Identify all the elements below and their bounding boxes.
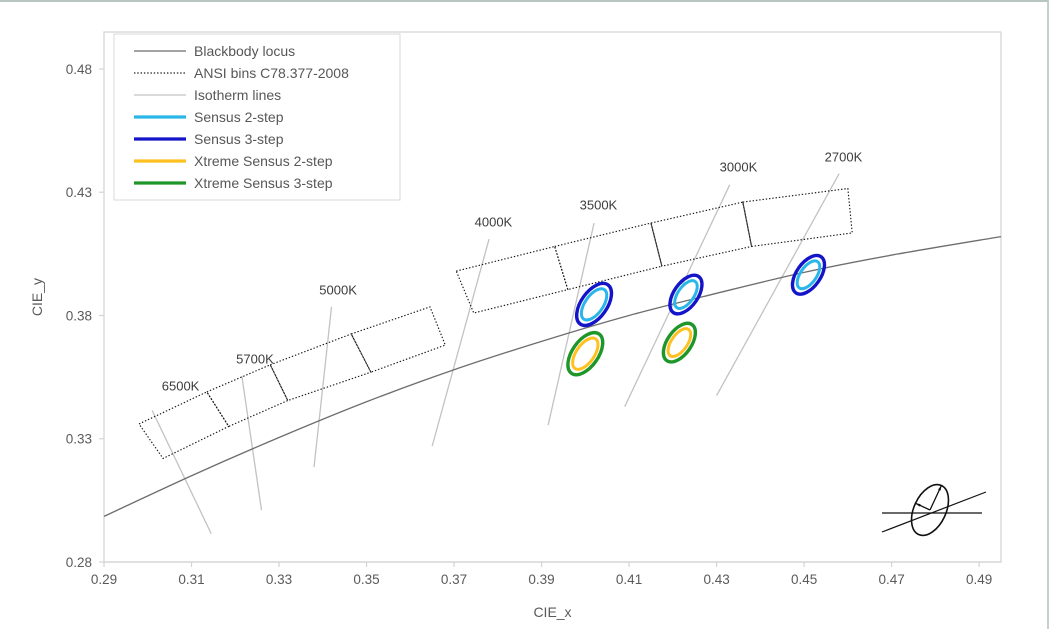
legend-item-label: Sensus 2-step — [194, 109, 284, 125]
figure-frame: 6500K5700K5000K4000K3500K3000K2700K 0.29… — [0, 0, 1049, 629]
x-tick-label-0.35: 0.35 — [353, 572, 379, 587]
legend-item-label: Xtreme Sensus 3-step — [194, 175, 333, 191]
y-tick-label-0.48: 0.48 — [66, 62, 92, 77]
blackbody-locus-path — [104, 237, 1001, 517]
ellipse-xtreme-sensus-2-step — [664, 325, 695, 360]
y-tick-label-0.28: 0.28 — [66, 555, 92, 570]
ellipse-sensus-3-step — [570, 277, 619, 331]
x-tick-label-0.45: 0.45 — [791, 572, 817, 587]
x-axis-title: CIE_x — [533, 604, 571, 620]
axis-titles-group: CIE_xCIE_y — [29, 278, 572, 620]
x-tick-label-0.37: 0.37 — [441, 572, 467, 587]
ansi-bin-3000K-bin — [651, 202, 752, 266]
blackbody-locus-group — [104, 237, 1001, 517]
macadam-ellipse-schematic-inset — [882, 479, 986, 541]
x-tick-label-0.33: 0.33 — [266, 572, 292, 587]
ansi-bin-6500K-bin — [139, 392, 229, 459]
ansi-bin-4000K-bin — [456, 246, 568, 313]
ellipse-sensus-2-step — [670, 277, 701, 312]
isotherm-line-5700K — [242, 376, 262, 510]
ellipse-xtreme-sensus-2-step — [568, 334, 603, 374]
ellipse-sensus-2-step — [576, 284, 611, 324]
x-tick-label-0.31: 0.31 — [178, 572, 204, 587]
cct-label-3500K: 3500K — [580, 197, 618, 212]
legend-item-label: Xtreme Sensus 2-step — [194, 153, 333, 169]
y-axis-title: CIE_y — [29, 278, 45, 316]
x-tick-label-0.49: 0.49 — [966, 572, 992, 587]
cct-label-6500K: 6500K — [162, 379, 200, 394]
isotherm-line-6500K — [152, 410, 211, 533]
ansi-bin-divider-1 — [743, 202, 752, 246]
x-tick-label-0.39: 0.39 — [528, 572, 554, 587]
ansi-bin-2700K-bin — [743, 189, 852, 247]
legend-item-label: Sensus 3-step — [194, 131, 284, 147]
ellipse-cluster-4000K-0 — [570, 277, 619, 331]
legend[interactable]: Blackbody locusANSI bins C78.377-2008Iso… — [114, 34, 400, 200]
cct-label-2700K: 2700K — [825, 149, 863, 164]
ansi-bin-4500K-bin — [351, 307, 445, 372]
y-tick-label-0.38: 0.38 — [66, 308, 92, 323]
x-tick-label-0.41: 0.41 — [616, 572, 642, 587]
cct-label-5700K: 5700K — [236, 352, 274, 367]
legend-item-label: ANSI bins C78.377-2008 — [194, 65, 349, 81]
x-tick-label-0.29: 0.29 — [91, 572, 117, 587]
ellipse-sensus-2-step — [793, 257, 824, 292]
cie-chromaticity-chart: 6500K5700K5000K4000K3500K3000K2700K 0.29… — [0, 2, 1049, 631]
cct-label-5000K: 5000K — [319, 283, 357, 298]
y-tick-label-0.43: 0.43 — [66, 185, 92, 200]
inset-ellipse-group — [904, 479, 956, 541]
chart-svg: 6500K5700K5000K4000K3500K3000K2700K 0.29… — [0, 2, 1049, 631]
ellipse-clusters-group — [561, 250, 831, 381]
y-axis-group: 0.280.330.380.430.48 — [66, 62, 104, 570]
ansi-bin-3500K-bin — [555, 223, 662, 290]
inset-tilted-axis — [882, 492, 986, 532]
isotherm-line-5000K — [314, 307, 332, 467]
isotherm-line-2700K — [717, 174, 840, 396]
x-tick-label-0.47: 0.47 — [878, 572, 904, 587]
cct-label-3000K: 3000K — [720, 159, 758, 174]
x-axis-group: 0.290.310.330.350.370.390.410.430.450.47… — [91, 562, 1001, 587]
legend-item-label: Blackbody locus — [194, 43, 295, 59]
x-tick-label-0.43: 0.43 — [703, 572, 729, 587]
ansi-bin-divider-0 — [651, 223, 662, 266]
cct-label-4000K: 4000K — [475, 215, 513, 230]
legend-item-label: Isotherm lines — [194, 87, 281, 103]
y-tick-label-0.33: 0.33 — [66, 432, 92, 447]
